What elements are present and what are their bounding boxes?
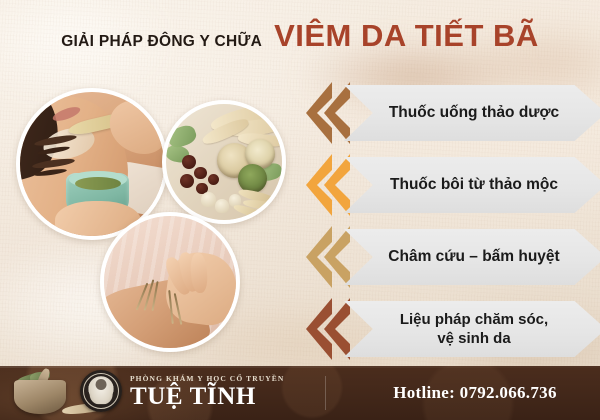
footer-bar: PHÒNG KHÁM Y HỌC CỔ TRUYỀN TUỆ TĨNH Hotl… <box>0 366 600 420</box>
brand-subtitle: PHÒNG KHÁM Y HỌC CỔ TRUYỀN <box>130 374 284 383</box>
photo-acupuncture-treatment <box>100 212 240 352</box>
list-item-label: Châm cứu – bấm huyệt <box>366 247 583 267</box>
title-prefix: GIẢI PHÁP ĐÔNG Y CHỮA <box>61 33 262 51</box>
clinic-emblem-icon <box>80 370 122 412</box>
list-item-card[interactable]: Thuốc bôi từ thảo mộc <box>344 157 600 213</box>
list-item[interactable]: Thuốc uống thảo dược <box>306 82 600 144</box>
herb-berry-3 <box>180 174 194 188</box>
list-item[interactable]: Liệu pháp chăm sóc, vệ sinh da <box>306 298 600 360</box>
list-item-label: Thuốc bôi từ thảo mộc <box>368 175 582 195</box>
herb-berry-1 <box>182 155 196 169</box>
footer-divider <box>325 376 326 410</box>
herb-mushroom-2 <box>215 199 229 213</box>
chevron-left-icon <box>324 226 350 288</box>
chevron-group <box>306 226 356 288</box>
list-item-label: Liệu pháp chăm sóc, vệ sinh da <box>378 310 572 348</box>
list-item[interactable]: Thuốc bôi từ thảo mộc <box>306 154 600 216</box>
list-item-card[interactable]: Châm cứu – bấm huyệt <box>344 229 600 285</box>
herb-mushroom-1 <box>201 192 216 207</box>
brand-logo[interactable]: PHÒNG KHÁM Y HỌC CỔ TRUYỀN TUỆ TĨNH <box>80 370 284 412</box>
facial-bowl-liquid <box>75 177 121 190</box>
chevron-group <box>306 298 356 360</box>
chevron-left-icon <box>324 154 350 216</box>
mortar-icon <box>14 380 66 414</box>
brand-name: TUỆ TĨNH <box>130 384 284 409</box>
chevron-group <box>306 82 356 144</box>
chevron-group <box>306 154 356 216</box>
emblem-figure-head <box>96 379 107 390</box>
acupuncture-photo-art <box>104 216 236 348</box>
title-main: VIÊM DA TIẾT BÃ <box>274 18 539 54</box>
chevron-left-icon <box>324 298 350 360</box>
list-item-label: Thuốc uống thảo dược <box>367 103 583 123</box>
solution-list: Thuốc uống thảo dược Thuốc bôi từ thảo m… <box>306 82 600 370</box>
photo-herbal-ingredients <box>162 100 286 224</box>
herb-berry-2 <box>194 167 207 180</box>
chevron-left-icon <box>324 82 350 144</box>
list-item[interactable]: Châm cứu – bấm huyệt <box>306 226 600 288</box>
herbs-photo-art <box>166 104 282 220</box>
facial-photo-art <box>20 92 164 236</box>
list-item-card[interactable]: Thuốc uống thảo dược <box>344 85 600 141</box>
page-title: GIẢI PHÁP ĐÔNG Y CHỮA VIÊM DA TIẾT BÃ <box>0 18 600 60</box>
brand-text: PHÒNG KHÁM Y HỌC CỔ TRUYỀN TUỆ TĨNH <box>130 374 284 409</box>
list-item-card[interactable]: Liệu pháp chăm sóc, vệ sinh da <box>344 301 600 357</box>
hotline-text[interactable]: Hotline: 0792.066.736 <box>350 366 600 420</box>
